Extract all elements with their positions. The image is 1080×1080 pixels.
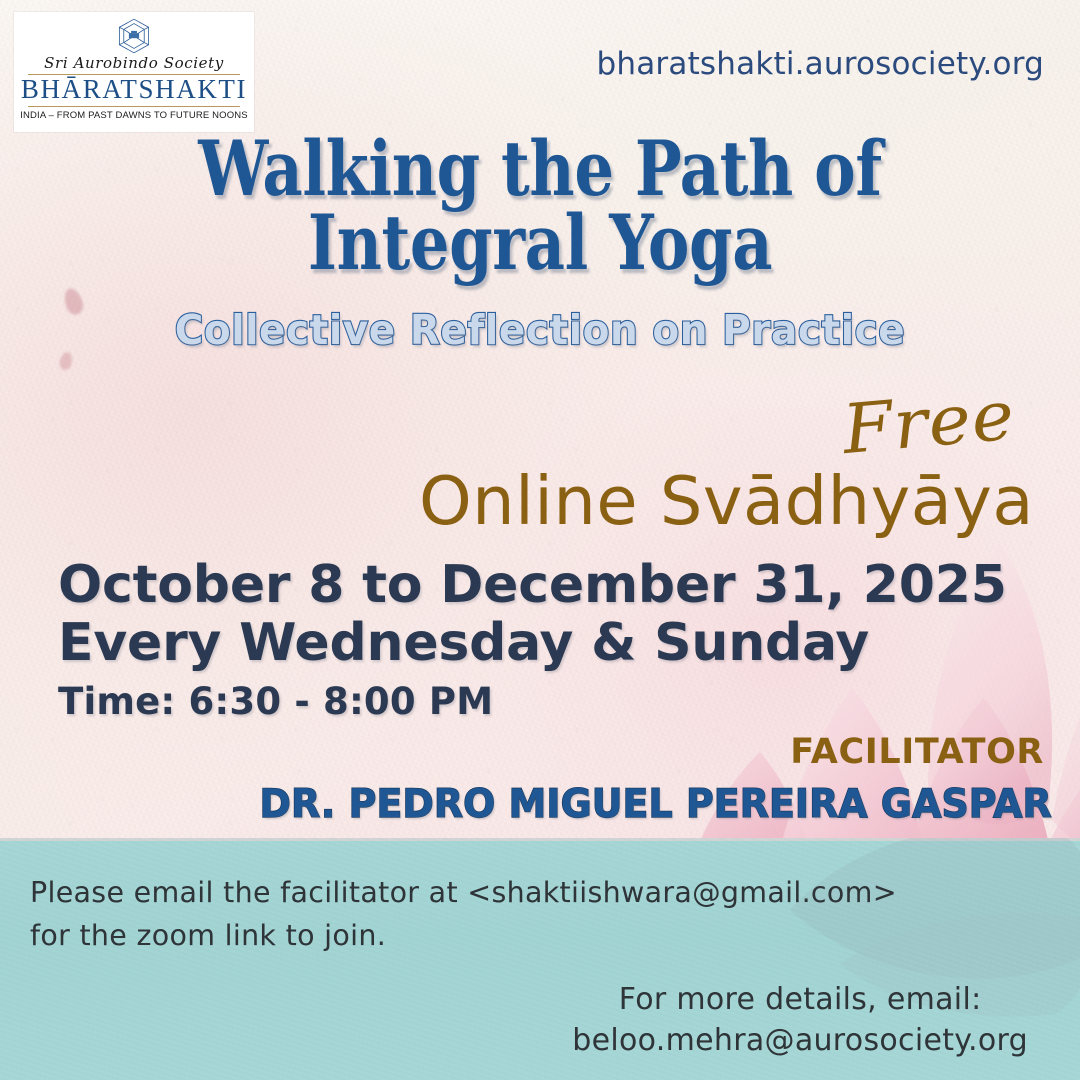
recurring-days: Every Wednesday & Sunday <box>58 614 1007 672</box>
sri-aurobindo-symbol-icon <box>112 17 156 55</box>
details-email[interactable]: beloo.mehra@aurosociety.org <box>572 1021 1028 1062</box>
contact-line-1: Please email the facilitator at <shaktii… <box>30 876 897 909</box>
bharatshakti-logo: Sri Aurobindo Society BHĀRATSHAKTI INDIA… <box>14 12 254 132</box>
session-time: Time: 6:30 - 8:00 PM <box>58 680 1007 723</box>
logo-main-name: BHĀRATSHAKTI <box>21 76 247 104</box>
page-title: Walking the Path of Integral Yoga <box>97 132 983 281</box>
logo-tagline: INDIA – FROM PAST DAWNS TO FUTURE NOONS <box>20 110 248 121</box>
facilitator-name: DR. PEDRO MIGUEL PEREIRA GASPAR <box>260 782 1052 827</box>
details-line-1: For more details, email: <box>619 982 982 1017</box>
schedule-block: October 8 to December 31, 2025 Every Wed… <box>58 556 1007 723</box>
event-poster: Sri Aurobindo Society BHĀRATSHAKTI INDIA… <box>0 0 1080 1080</box>
logo-script-name: Sri Aurobindo Society <box>44 56 224 71</box>
date-range: October 8 to December 31, 2025 <box>58 556 1007 614</box>
logo-divider-bottom <box>28 106 240 107</box>
contact-line-2: for the zoom link to join. <box>30 915 897 958</box>
title-line-2: Integral Yoga <box>97 206 983 280</box>
offering-format: Online Svādhyāya <box>419 462 1034 540</box>
website-url[interactable]: bharatshakti.aurosociety.org <box>597 46 1045 82</box>
facilitator-label: FACILITATOR <box>790 732 1044 772</box>
more-details-block: For more details, email: beloo.mehra@aur… <box>572 980 1028 1062</box>
free-badge: Free <box>839 376 1018 470</box>
contact-instructions: Please email the facilitator at <shaktii… <box>30 872 897 958</box>
subtitle: Collective Reflection on Practice <box>27 306 1053 354</box>
